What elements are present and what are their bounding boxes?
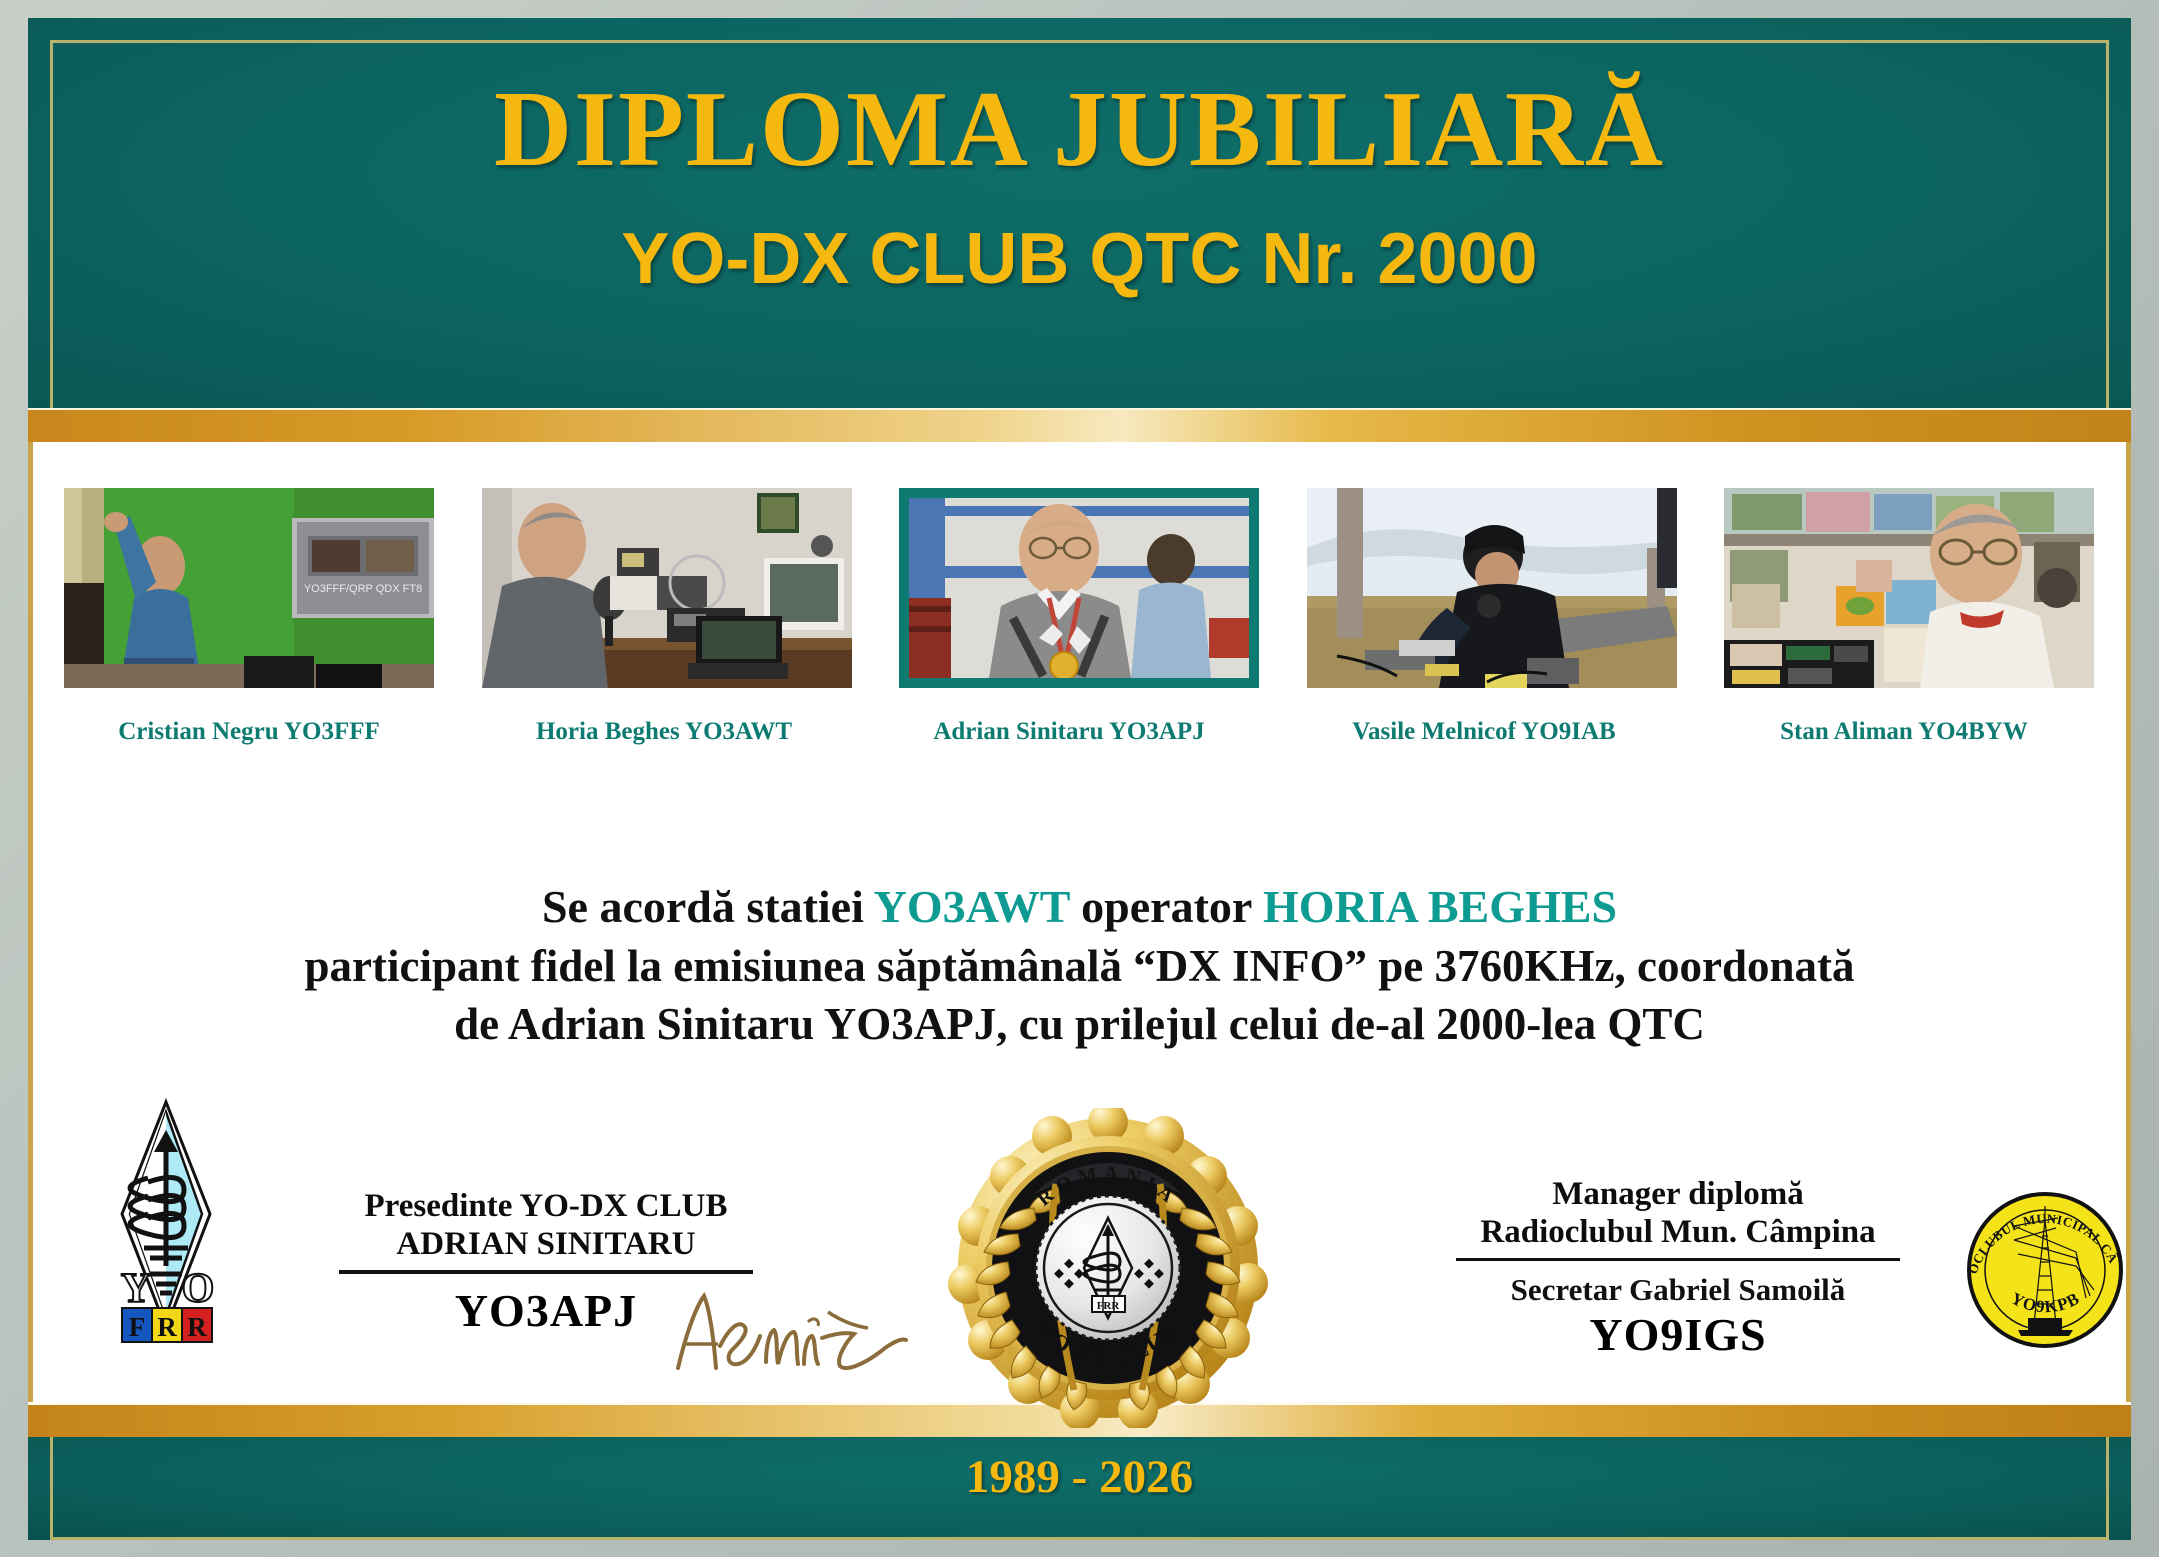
svg-text:YO3FFF/QRP QDX FT8: YO3FFF/QRP QDX FT8 xyxy=(304,583,422,595)
caption-photo-2: Horia Beghes YO3AWT xyxy=(479,718,849,746)
signature-rule-left xyxy=(339,1270,753,1274)
header-panel: DIPLOMA JUBILIARĂ YO-DX CLUB QTC Nr. 200… xyxy=(28,18,2131,408)
certificate-frame: DIPLOMA JUBILIARĂ YO-DX CLUB QTC Nr. 200… xyxy=(28,18,2131,1540)
photo-1-image: YO3FFF/QRP QDX FT8 xyxy=(64,488,434,688)
photo-vasile-melnicof xyxy=(1307,488,1677,688)
page-title: DIPLOMA JUBILIARĂ xyxy=(28,76,2131,184)
caption-photo-4: Vasile Melnicof YO9IAB xyxy=(1299,718,1669,746)
yo-frr-logo: Y O F R R xyxy=(106,1096,226,1346)
photo-5-image xyxy=(1724,488,2094,688)
photo-stan-aliman xyxy=(1724,488,2094,688)
photo-3-image xyxy=(909,498,1249,678)
manager-role: Manager diplomă xyxy=(1378,1176,1978,1214)
gold-divider-top xyxy=(28,408,2131,444)
photo-4-image xyxy=(1307,488,1677,688)
anniversary-years: 1989 - 2026 xyxy=(28,1450,2131,1504)
award-line-1: Se acordă statiei YO3AWT operator HORIA … xyxy=(88,878,2071,937)
yo-dx-club-seal: ROMANIA YO DX CLUB xyxy=(948,1108,1268,1428)
award-line-3: de Adrian Sinitaru YO3APJ, cu prilejul c… xyxy=(88,995,2071,1054)
president-name: ADRIAN SINITARU xyxy=(266,1226,826,1264)
award-line-1-mid: operator xyxy=(1070,881,1263,932)
manager-club: Radioclubul Mun. Câmpina xyxy=(1378,1214,1978,1252)
handwritten-signature xyxy=(668,1286,908,1376)
award-text: Se acordă statiei YO3AWT operator HORIA … xyxy=(88,878,2071,1054)
frr-yo-letter-y: Y xyxy=(121,1266,151,1312)
photo-horia-beghes xyxy=(482,488,852,688)
frr-letter-r1: R xyxy=(157,1312,177,1342)
handwritten-signature-graphic xyxy=(668,1286,908,1376)
award-callsign: YO3AWT xyxy=(874,881,1070,932)
photo-captions: Cristian Negru YO3FFF Horia Beghes YO3AW… xyxy=(64,718,2094,758)
caption-photo-1: Cristian Negru YO3FFF xyxy=(64,718,434,746)
frr-yo-letter-o: O xyxy=(182,1266,215,1312)
photo-adrian-sinitaru xyxy=(899,488,1259,688)
caption-photo-3: Adrian Sinitaru YO3APJ xyxy=(884,718,1254,746)
frr-letter-f: F xyxy=(129,1312,146,1342)
photo-cristian-negru: YO3FFF/QRP QDX FT8 xyxy=(64,488,434,688)
signature-block-right: Manager diplomă Radioclubul Mun. Câmpina… xyxy=(1378,1176,1978,1361)
manager-callsign: YO9IGS xyxy=(1378,1308,1978,1361)
secretary-name: Secretar Gabriel Samoilă xyxy=(1378,1271,1978,1308)
campina-logo-graphic: RADIOCLUBUL MUNICIPAL CÂMPINA YO9KPB xyxy=(1958,1178,2133,1353)
award-line-1-prefix: Se acordă statiei xyxy=(542,881,874,932)
seal-frr-text: FRR xyxy=(1097,1300,1121,1312)
caption-photo-5: Stan Aliman YO4BYW xyxy=(1719,718,2089,746)
certificate-page: DIPLOMA JUBILIARĂ YO-DX CLUB QTC Nr. 200… xyxy=(0,0,2159,1557)
photo-2-image xyxy=(482,488,852,688)
signature-rule-right xyxy=(1456,1258,1900,1261)
president-role: Presedinte YO-DX CLUB xyxy=(266,1188,826,1226)
seal-graphic: ROMANIA YO DX CLUB xyxy=(948,1108,1268,1428)
frr-letter-r2: R xyxy=(187,1312,207,1342)
award-line-2: participant fidel la emisiunea săptămâna… xyxy=(88,937,2071,996)
yo-frr-logo-graphic: Y O F R R xyxy=(106,1096,226,1346)
radioclubul-campina-logo: RADIOCLUBUL MUNICIPAL CÂMPINA YO9KPB xyxy=(1958,1178,2133,1353)
award-operator-name: HORIA BEGHES xyxy=(1263,881,1617,932)
page-subtitle: YO-DX CLUB QTC Nr. 2000 xyxy=(28,223,2131,295)
photo-strip: YO3FFF/QRP QDX FT8 xyxy=(64,488,2094,708)
